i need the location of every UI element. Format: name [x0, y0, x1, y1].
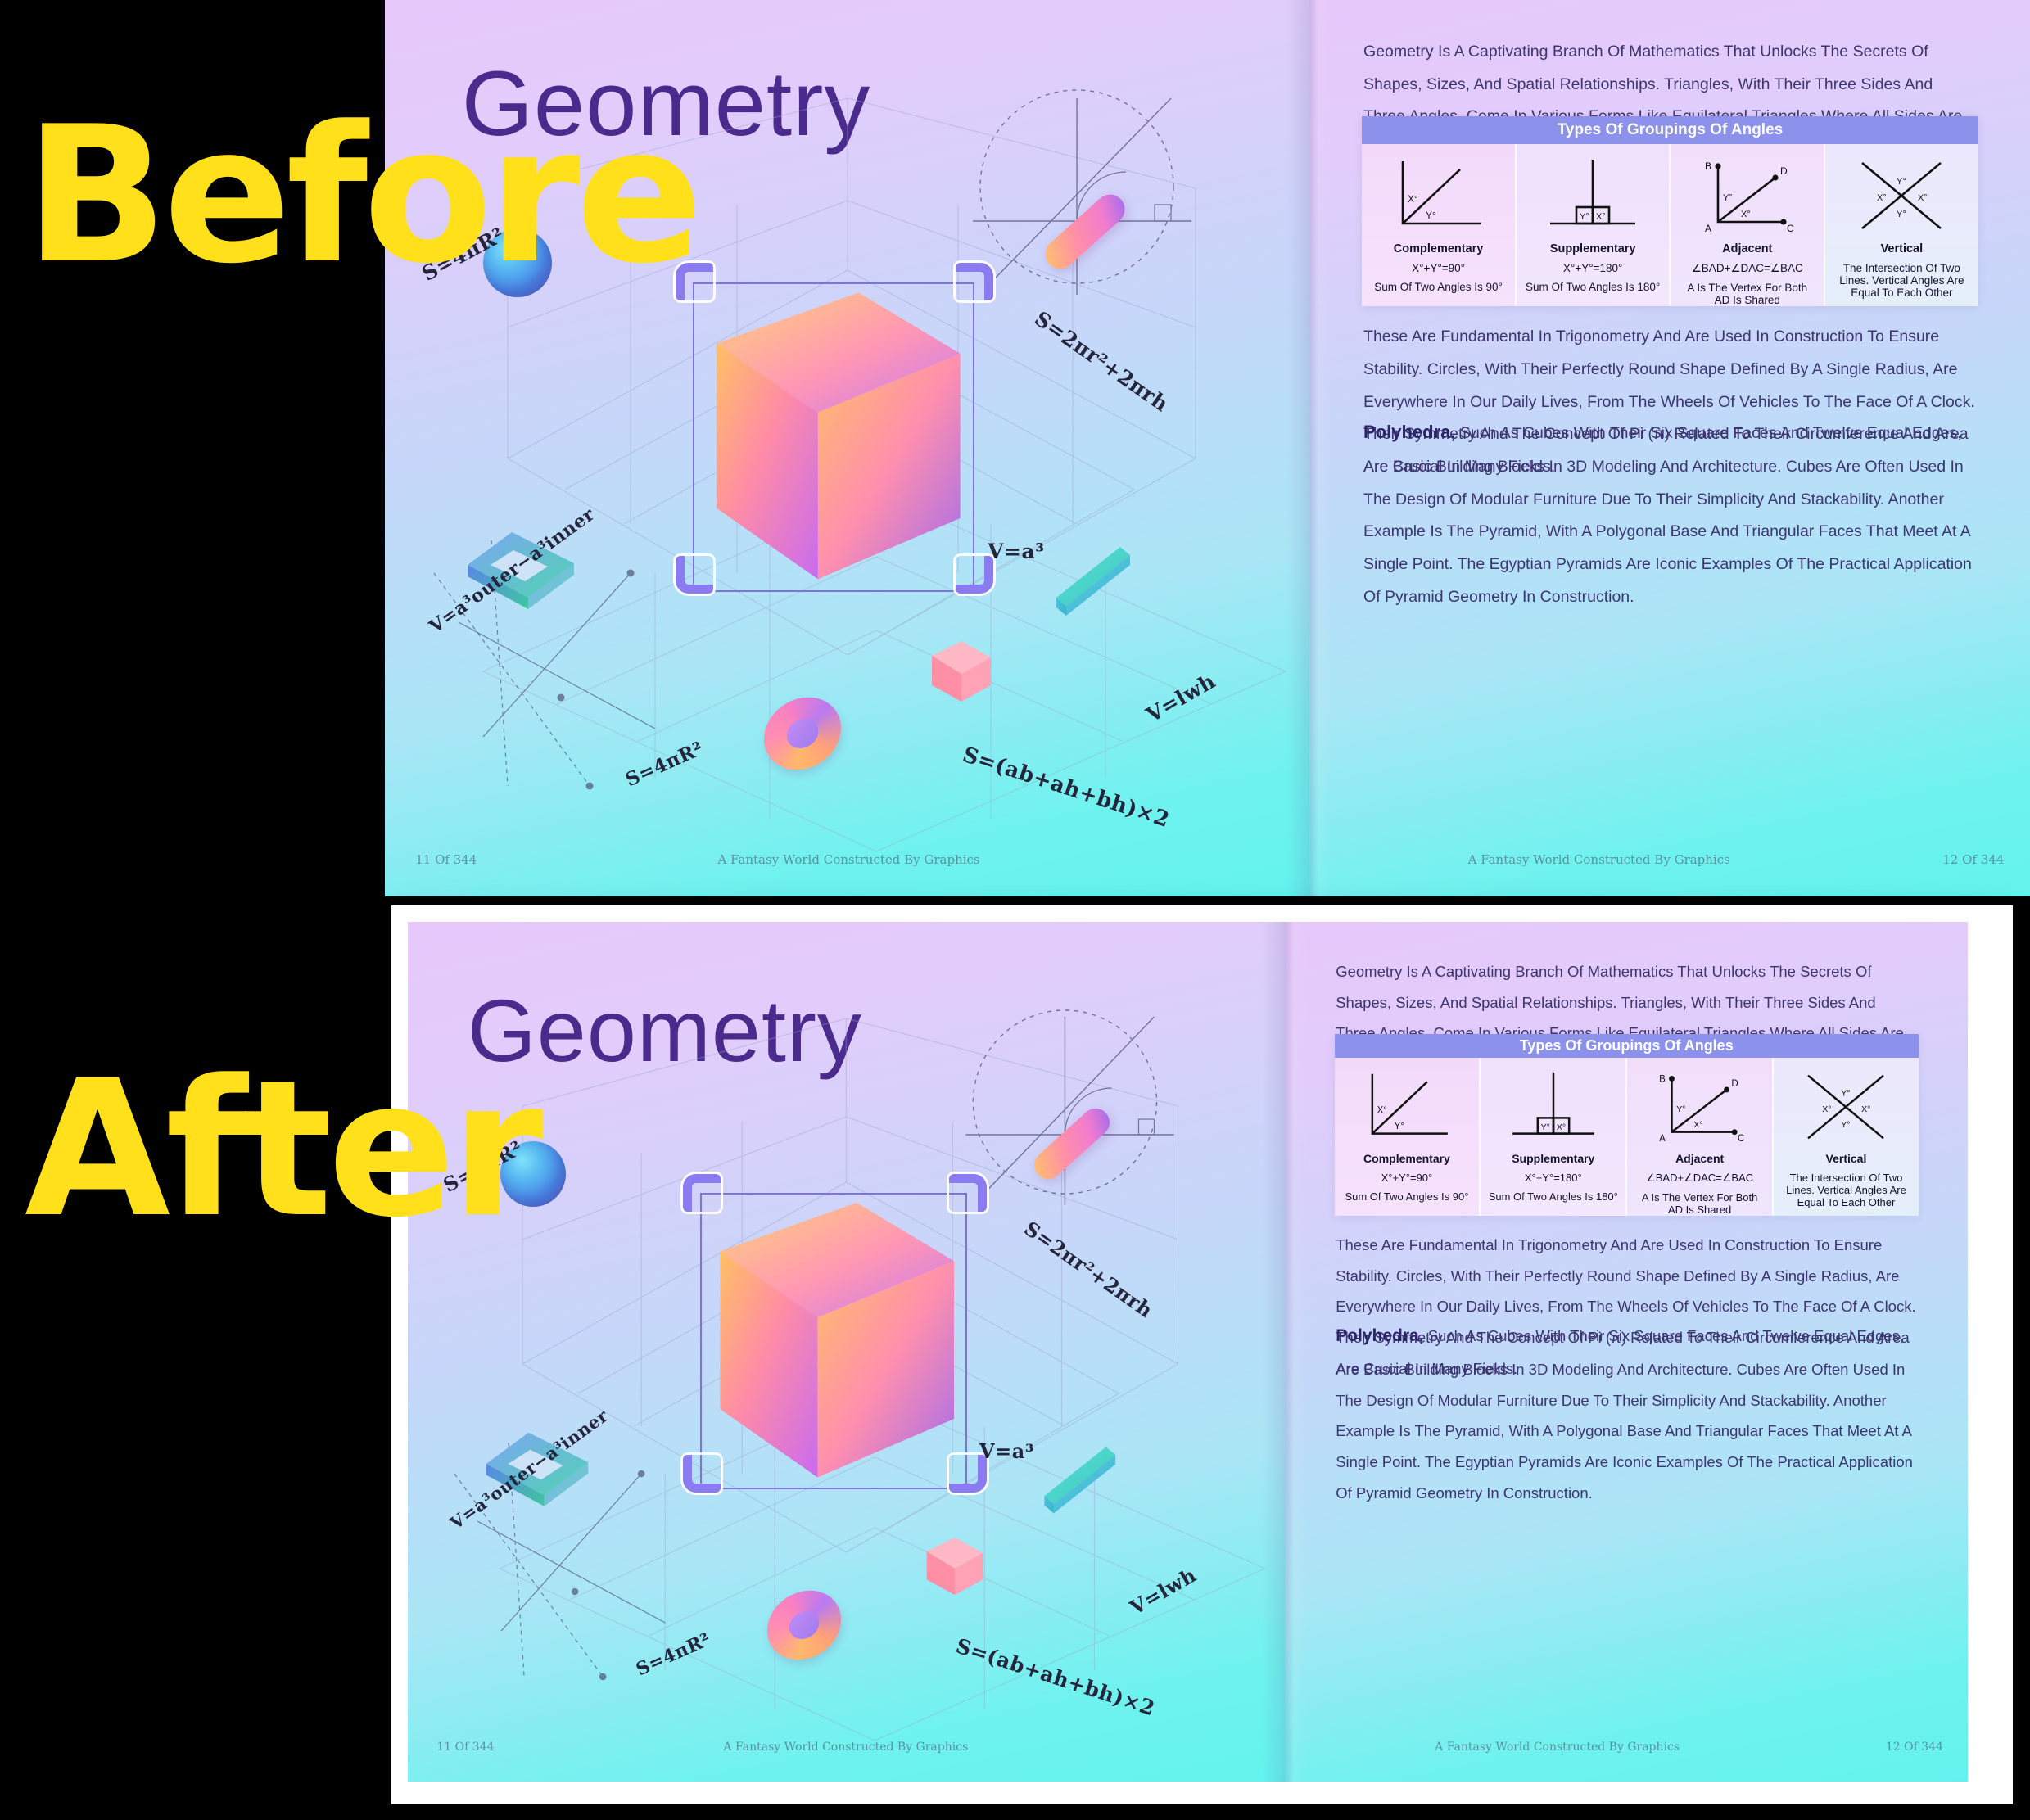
- svg-text:Y°: Y°: [1540, 1122, 1549, 1132]
- svg-text:Y°: Y°: [1842, 1089, 1851, 1099]
- cell-note: A Is The Vertex For Both AD Is Shared: [1636, 1191, 1764, 1216]
- right-page-body-3: Polyhedra, Such As Cubes With Their Six …: [1336, 1319, 1916, 1509]
- svg-text:X°: X°: [1823, 1104, 1832, 1114]
- angles-cell-supplementary: Y° X° Supplementary X°+Y°=180° Sum Of Tw…: [1479, 1058, 1625, 1216]
- angles-cell-vertical: Y° X° X° Y° Vertical The Intersection Of…: [1772, 1058, 1919, 1216]
- svg-text:Y°: Y°: [1897, 177, 1906, 187]
- svg-text:X°: X°: [1918, 193, 1928, 203]
- angles-cell-complementary: X° Y° Complementary X°+Y°=90° Sum Of Two…: [1362, 144, 1515, 306]
- supplementary-angle-diagram: Y° X°: [1506, 1069, 1601, 1145]
- svg-text:Y°: Y°: [1580, 212, 1589, 222]
- beam-shape: [1030, 1442, 1119, 1514]
- angles-cell-complementary: X° Y° Complementary X°+Y°=90° Sum Of Two…: [1335, 1058, 1480, 1216]
- cell-formula: X°+Y°=180°: [1525, 1172, 1582, 1184]
- cell-note: Sum Of Two Angles Is 90°: [1374, 281, 1503, 293]
- left-footer-caption: A Fantasy World Constructed By Graphics: [723, 1741, 968, 1754]
- complementary-angle-diagram: X° Y°: [1359, 1069, 1454, 1145]
- svg-text:X°: X°: [1596, 212, 1606, 222]
- cell-title: Vertical: [1826, 1152, 1867, 1165]
- adjacent-angle-diagram: B D A C Y° X°: [1698, 156, 1797, 235]
- before-label: Before: [25, 102, 699, 291]
- cell-formula: The Intersection Of Two Lines. Vertical …: [1836, 262, 1967, 299]
- svg-text:X°: X°: [1693, 1120, 1702, 1130]
- angles-cell-adjacent: B D A C Y° X° Adjacent ∠BAD+∠DAC=∠BAC A …: [1669, 144, 1824, 306]
- paragraph-3-lead: Polyhedra,: [1336, 1326, 1423, 1345]
- right-footer-caption: A Fantasy World Constructed By Graphics: [1468, 852, 1730, 867]
- cell-title: Adjacent: [1675, 1152, 1724, 1165]
- after-right-page: Geometry Is A Captivating Branch Of Math…: [1285, 922, 1968, 1782]
- svg-text:C: C: [1787, 223, 1794, 234]
- svg-text:X°: X°: [1877, 193, 1887, 203]
- angles-table-header: Types Of Groupings Of Angles: [1362, 116, 1978, 144]
- svg-text:X°: X°: [1377, 1106, 1387, 1116]
- adjacent-angle-diagram: B D A C Y° X°: [1652, 1069, 1747, 1145]
- svg-text:A: A: [1659, 1134, 1666, 1144]
- svg-text:Y°: Y°: [1897, 210, 1906, 219]
- main-cube-shape: [710, 1193, 964, 1485]
- supplementary-angle-diagram: Y° X°: [1544, 156, 1642, 235]
- beam-shape: [1042, 542, 1133, 616]
- cell-formula: ∠BAD+∠DAC=∠BAC: [1646, 1172, 1753, 1185]
- comparison-stage: Before After Geometry: [0, 0, 2030, 1820]
- angles-table-header: Types Of Groupings Of Angles: [1335, 1034, 1919, 1058]
- cell-title: Vertical: [1881, 242, 1924, 255]
- right-footer-page: 12 Of 344: [1886, 1741, 1943, 1754]
- left-footer-page: 11 Of 344: [436, 1741, 494, 1754]
- cell-formula: X°+Y°=90°: [1381, 1172, 1433, 1184]
- cell-note: Sum Of Two Angles Is 90°: [1345, 1190, 1468, 1203]
- paragraph-3: Polyhedra, Such As Cubes With Their Six …: [1363, 414, 1976, 614]
- svg-text:X°: X°: [1408, 193, 1418, 205]
- svg-text:A: A: [1705, 223, 1711, 234]
- svg-text:Y°: Y°: [1723, 193, 1733, 203]
- cell-note: Sum Of Two Angles Is 180°: [1526, 281, 1660, 293]
- geometry-illustration: S=4πR² S=2πr²+2πrh V=a³ V=a³outer−a³inne…: [408, 922, 1285, 1782]
- cell-formula: ∠BAD+∠DAC=∠BAC: [1692, 262, 1803, 275]
- svg-text:D: D: [1780, 165, 1788, 177]
- right-page-body-3: Polyhedra, Such As Cubes With Their Six …: [1363, 414, 1976, 614]
- svg-text:Y°: Y°: [1676, 1104, 1685, 1114]
- vertical-angle-diagram: Y° X° X° Y°: [1852, 156, 1951, 235]
- vertical-angle-diagram: Y° X° X° Y°: [1798, 1069, 1893, 1145]
- angles-cell-supplementary: Y° X° Supplementary X°+Y°=180° Sum Of Tw…: [1515, 144, 1670, 306]
- svg-text:X°: X°: [1557, 1122, 1566, 1132]
- left-footer-page: 11 Of 344: [415, 852, 477, 867]
- cell-formula: The Intersection Of Two Lines. Vertical …: [1784, 1172, 1908, 1208]
- right-footer-caption: A Fantasy World Constructed By Graphics: [1435, 1741, 1680, 1754]
- cell-title: Supplementary: [1550, 242, 1636, 255]
- after-left-page: Geometry: [408, 922, 1285, 1782]
- formula-cube-volume: V=a³: [979, 1439, 1034, 1463]
- angles-table: Types Of Groupings Of Angles X° Y°: [1335, 1034, 1919, 1217]
- svg-text:Y°: Y°: [1395, 1122, 1404, 1131]
- left-footer-caption: A Fantasy World Constructed By Graphics: [717, 852, 979, 867]
- cell-formula: X°+Y°=90°: [1412, 262, 1465, 274]
- after-label: After: [25, 1056, 538, 1244]
- cell-formula: X°+Y°=180°: [1563, 262, 1623, 274]
- right-footer-page: 12 Of 344: [1942, 852, 2004, 867]
- small-cube-shape: [920, 1533, 988, 1600]
- svg-text:X°: X°: [1862, 1104, 1871, 1114]
- paragraph-3-lead: Polyhedra,: [1363, 422, 1455, 442]
- paragraph-3: Polyhedra, Such As Cubes With Their Six …: [1336, 1319, 1916, 1509]
- paragraph-3-rest: Such As Cubes With Their Six Square Face…: [1336, 1327, 1913, 1502]
- angles-table: Types Of Groupings Of Angles X° Y°: [1362, 116, 1978, 306]
- svg-text:B: B: [1705, 160, 1711, 172]
- cell-title: Complementary: [1363, 1152, 1450, 1165]
- cell-title: Supplementary: [1512, 1152, 1594, 1165]
- angles-table-body: X° Y° Complementary X°+Y°=90° Sum Of Two…: [1362, 144, 1978, 306]
- small-cube-shape: [925, 636, 996, 707]
- svg-text:D: D: [1731, 1079, 1738, 1089]
- cell-title: Complementary: [1394, 242, 1484, 255]
- formula-cube-volume: V=a³: [988, 540, 1045, 563]
- cell-note: A Is The Vertex For Both AD Is Shared: [1680, 282, 1815, 306]
- angles-table-body: X° Y° Complementary X°+Y°=90° Sum Of Two…: [1335, 1058, 1919, 1216]
- cell-note: Sum Of Two Angles Is 180°: [1489, 1190, 1618, 1203]
- main-cube-shape: [704, 282, 972, 587]
- svg-text:Y°: Y°: [1842, 1120, 1851, 1130]
- angles-cell-vertical: Y° X° X° Y° Vertical The Intersection Of…: [1824, 144, 1978, 306]
- svg-text:X°: X°: [1741, 210, 1751, 219]
- svg-text:B: B: [1659, 1074, 1666, 1084]
- before-right-page: Geometry Is A Captivating Branch Of Math…: [1309, 0, 2030, 896]
- svg-text:C: C: [1738, 1134, 1744, 1144]
- complementary-angle-diagram: X° Y°: [1390, 156, 1488, 235]
- svg-text:Y°: Y°: [1426, 210, 1436, 221]
- angles-cell-adjacent: B D A C Y° X° Adjacent ∠BAD+∠DAC=∠BAC A …: [1625, 1058, 1772, 1216]
- after-spread: Geometry: [408, 922, 1968, 1782]
- paragraph-3-rest: Such As Cubes With Their Six Square Face…: [1363, 424, 1972, 606]
- cell-title: Adjacent: [1722, 242, 1772, 255]
